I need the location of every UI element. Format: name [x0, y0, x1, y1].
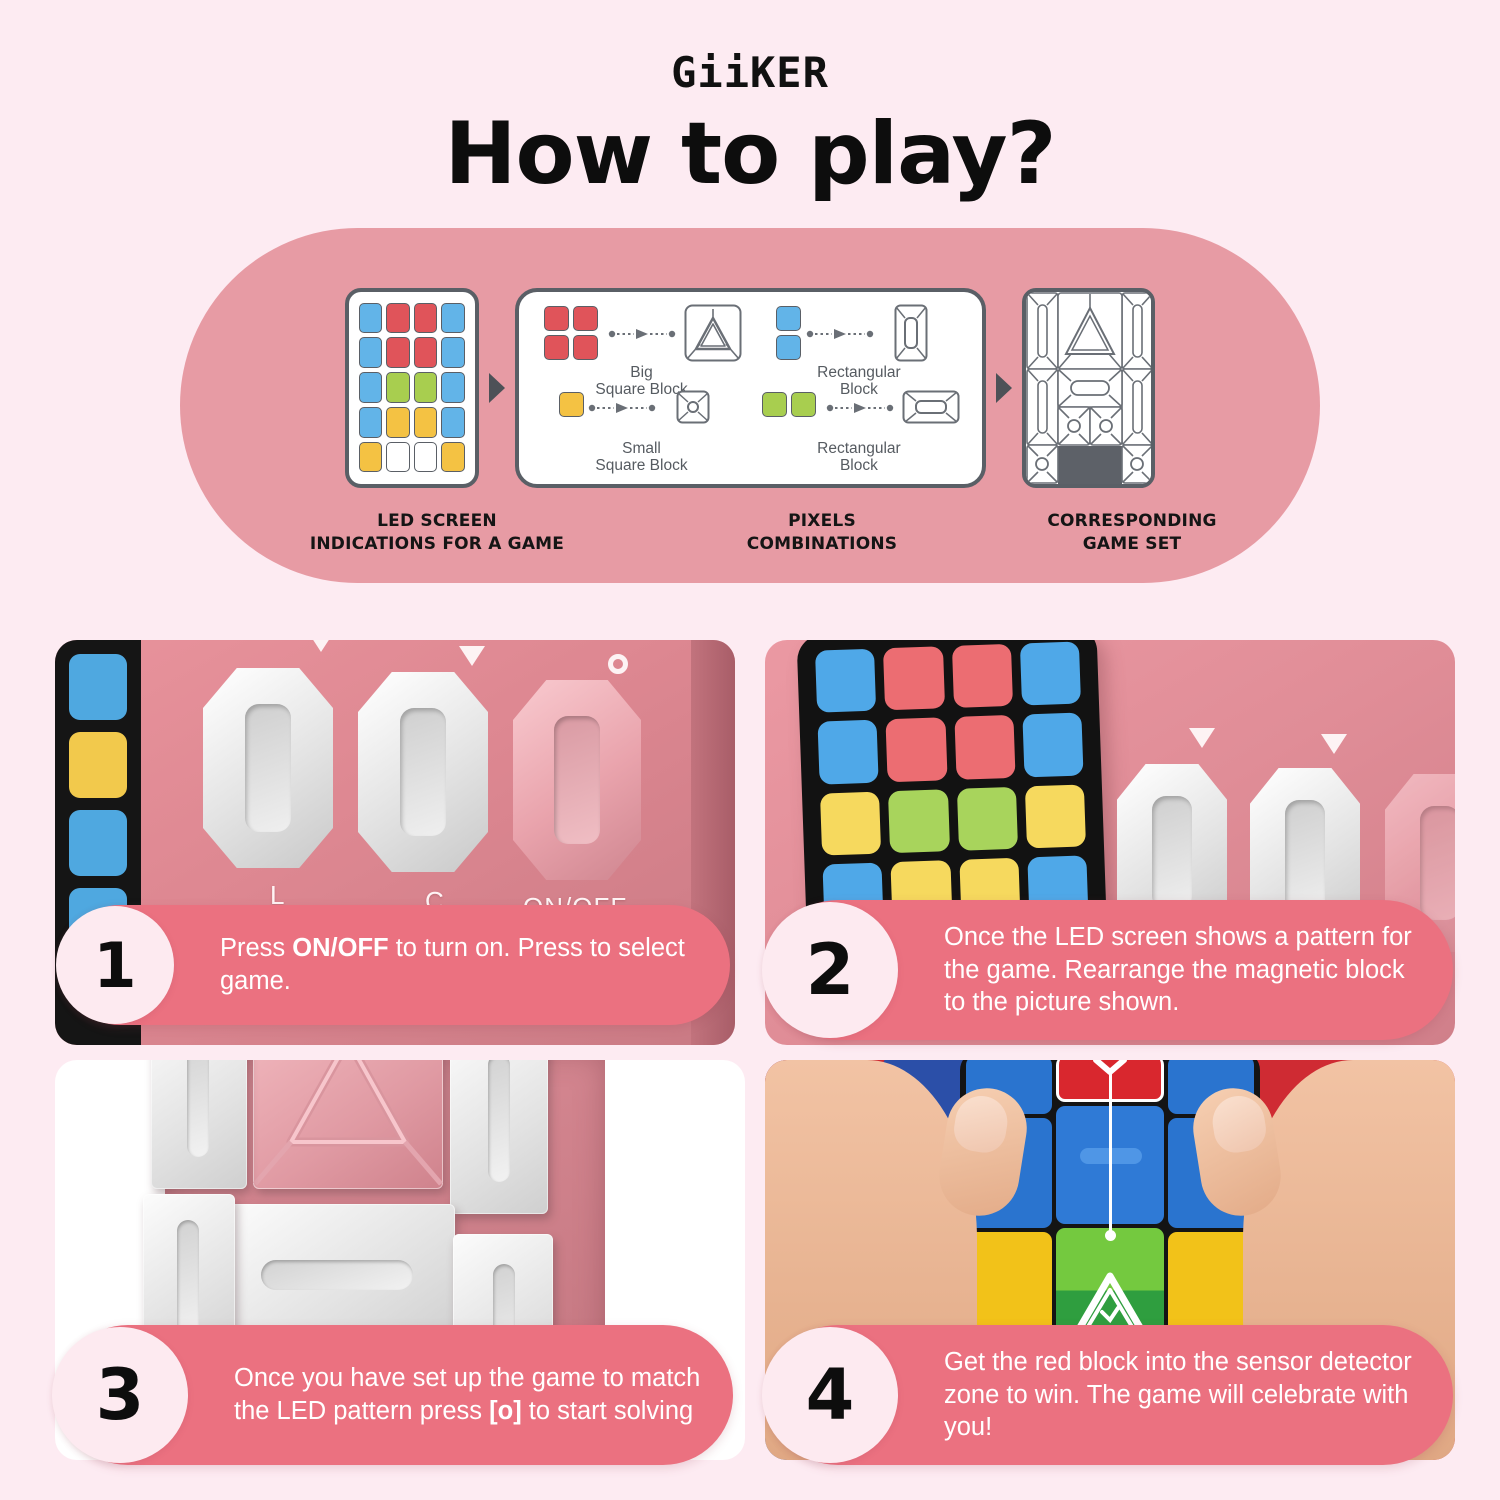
led-cell-white	[414, 442, 437, 473]
step-caption-2: 2 Once the LED screen shows a pattern fo…	[768, 900, 1453, 1040]
step-text-4: Get the red block into the sensor detect…	[944, 1346, 1431, 1444]
led-cell-blue	[441, 407, 464, 438]
overview-banner: Big Square Block	[180, 228, 1320, 583]
block-right-vertical	[450, 1060, 548, 1214]
circle-block-icon	[658, 388, 728, 424]
combination-label: Small Square Block	[533, 440, 750, 475]
led-cell-blue	[441, 372, 464, 403]
brand-logo: GiiKER	[0, 48, 1500, 104]
led-cell-green	[386, 372, 409, 403]
combination-pixels	[554, 388, 588, 417]
step-text-2: Once the LED screen shows a pattern for …	[944, 921, 1431, 1019]
led-cell-blue	[359, 303, 382, 334]
led-pixel-green	[888, 789, 949, 853]
button-c[interactable]	[358, 672, 488, 872]
combination-rectangular-horizontal: Rectangular Block	[750, 388, 967, 474]
led-cell-blue	[441, 337, 464, 368]
block-pink-triangle	[253, 1060, 443, 1189]
led-cell-yellow	[414, 407, 437, 438]
arrow-connector-icon	[608, 302, 678, 340]
combination-big-square: Big Square Block	[533, 302, 750, 388]
step-number-1: 1	[56, 906, 174, 1024]
corresponding-game-set-diagram	[1022, 288, 1155, 488]
led-cell-green	[414, 372, 437, 403]
led-cell-red	[386, 303, 409, 334]
combination-pixels	[752, 388, 826, 417]
triangle-block-icon	[678, 302, 748, 362]
horizontal-bar-block-icon	[896, 388, 966, 424]
pixels-combinations-diagram: Big Square Block	[515, 288, 986, 488]
led-pixel-yellow	[1025, 784, 1086, 848]
step-number-2: 2	[762, 902, 898, 1038]
led-cell-yellow	[359, 442, 382, 473]
led-cell-blue	[359, 337, 382, 368]
page-title: How to play?	[0, 104, 1500, 204]
led-cell-blue	[359, 407, 382, 438]
step-text-3: Once you have set up the game to match t…	[234, 1362, 711, 1427]
led-cell-yellow	[441, 442, 464, 473]
arrow-connector-icon	[588, 388, 658, 414]
brand-logo-text: GiiKER	[671, 48, 829, 97]
overview-row: Big Square Block	[180, 280, 1320, 495]
combination-pixels	[534, 302, 608, 360]
arrow-connector-icon	[806, 302, 876, 340]
step-caption-3: 3 Once you have set up the game to match…	[58, 1325, 733, 1465]
step-number-4: 4	[762, 1327, 898, 1463]
led-cell-blue	[359, 372, 382, 403]
step-number-3: 3	[52, 1327, 188, 1463]
led-pixel-red	[954, 715, 1015, 779]
led-cell-yellow	[386, 407, 409, 438]
led-pixel-red	[951, 644, 1012, 708]
led-pixel-blue	[815, 649, 876, 713]
block-left-vertical	[151, 1060, 247, 1189]
arrow-connector-icon	[826, 388, 896, 414]
led-pixel-blue	[1022, 713, 1083, 777]
banner-captions: LED SCREENINDICATIONS FOR A GAME PIXELSC…	[180, 510, 1320, 556]
caption-corresponding-game-set: CORRESPONDINGGAME SET	[972, 510, 1292, 556]
led-pixel-red	[883, 646, 944, 710]
caption-pixels-combinations: PIXELSCOMBINATIONS	[672, 510, 972, 556]
led-pixel-blue	[817, 720, 878, 784]
led-cell-white	[386, 442, 409, 473]
led-cell-red	[414, 303, 437, 334]
caption-led-screen: LED SCREENINDICATIONS FOR A GAME	[202, 510, 672, 556]
led-pixel-blue	[1020, 641, 1081, 705]
button-on-off[interactable]	[513, 680, 641, 880]
led-pixel-green	[956, 787, 1017, 851]
button-l[interactable]	[203, 668, 333, 868]
arrow-separator-icon	[489, 373, 505, 403]
combination-rectangular-vertical: Rectangular Block	[750, 302, 967, 388]
step-caption-4: 4 Get the red block into the sensor dete…	[768, 1325, 1453, 1465]
combination-label: Rectangular Block	[750, 440, 967, 475]
led-pixel-yellow	[820, 791, 881, 855]
led-screen-diagram	[345, 288, 479, 488]
led-cell-red	[414, 337, 437, 368]
led-cell-blue	[441, 303, 464, 334]
led-pixel-red	[886, 718, 947, 782]
led-cell-red	[386, 337, 409, 368]
combination-pixels	[772, 302, 806, 360]
step-caption-1: 1 Press ON/OFF to turn on. Press to sele…	[60, 905, 730, 1025]
vertical-bar-block-icon	[876, 302, 946, 362]
combination-small-square: Small Square Block	[533, 388, 750, 474]
step-text-1: Press ON/OFF to turn on. Press to select…	[220, 932, 708, 997]
arrow-separator-icon	[996, 373, 1012, 403]
